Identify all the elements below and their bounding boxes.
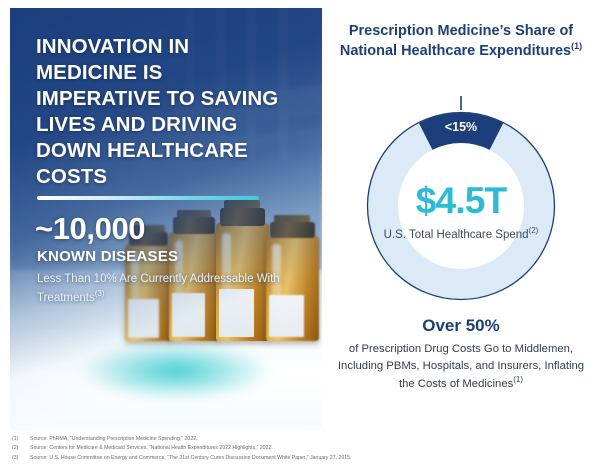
footnote-text: Source: Centers for Medicare & Medicaid … xyxy=(30,445,273,453)
callout-headline: Over 50% xyxy=(325,316,597,336)
callout-body: of Prescription Drug Costs Go to Middlem… xyxy=(331,341,591,393)
stat-note-text: Less Than 10% Are Currently Addressable … xyxy=(37,273,280,304)
donut-center-label-ref: (2) xyxy=(529,226,539,235)
footnote-row: (1) Source: PhRMA, “Understanding Prescr… xyxy=(12,436,588,444)
stat-note-ref: (3) xyxy=(95,289,105,298)
donut-center-label: U.S. Total Healthcare Spend(2) xyxy=(356,226,566,243)
donut-center-label-text: U.S. Total Healthcare Spend xyxy=(384,229,529,241)
hero-headline: INNOVATION IN MEDICINE IS IMPERATIVE TO … xyxy=(36,34,286,190)
chart-title-ref: (1) xyxy=(571,41,582,51)
chart-title-text: Prescription Medicine’s Share of Nationa… xyxy=(340,23,573,59)
chart-title: Prescription Medicine’s Share of Nationa… xyxy=(325,22,597,61)
footnote-text: Source: PhRMA, “Understanding Prescripti… xyxy=(30,436,198,444)
footnote-number: (1) xyxy=(12,436,30,444)
footnote-row: (2) Source: Centers for Medicare & Medic… xyxy=(12,445,588,453)
stat-note: Less Than 10% Are Currently Addressable … xyxy=(37,271,287,306)
footnote-row: (3) Source: U.S. House Committee on Ener… xyxy=(12,455,588,463)
footnote-text: Source: U.S. House Committee on Energy a… xyxy=(30,455,351,463)
right-chart-panel: Prescription Medicine’s Share of Nationa… xyxy=(325,8,597,432)
left-hero-panel: INNOVATION IN MEDICINE IS IMPERATIVE TO … xyxy=(10,8,322,430)
donut-chart: <15% $4.5T U.S. Total Healthcare Spend(2… xyxy=(356,96,566,308)
callout-body-ref: (1) xyxy=(513,375,523,384)
callout-body-text: of Prescription Drug Costs Go to Middlem… xyxy=(338,343,584,390)
footnotes: (1) Source: PhRMA, “Understanding Prescr… xyxy=(12,436,588,464)
footnote-number: (3) xyxy=(12,455,30,463)
infographic-canvas: INNOVATION IN MEDICINE IS IMPERATIVE TO … xyxy=(0,0,600,472)
footnote-number: (2) xyxy=(12,445,30,453)
gradient-divider xyxy=(37,196,259,200)
stat-label: KNOWN DISEASES xyxy=(37,248,297,265)
donut-percent-label: <15% xyxy=(356,120,566,134)
donut-center-value: $4.5T xyxy=(356,180,566,222)
stat-value: ~10,000 xyxy=(35,211,295,247)
